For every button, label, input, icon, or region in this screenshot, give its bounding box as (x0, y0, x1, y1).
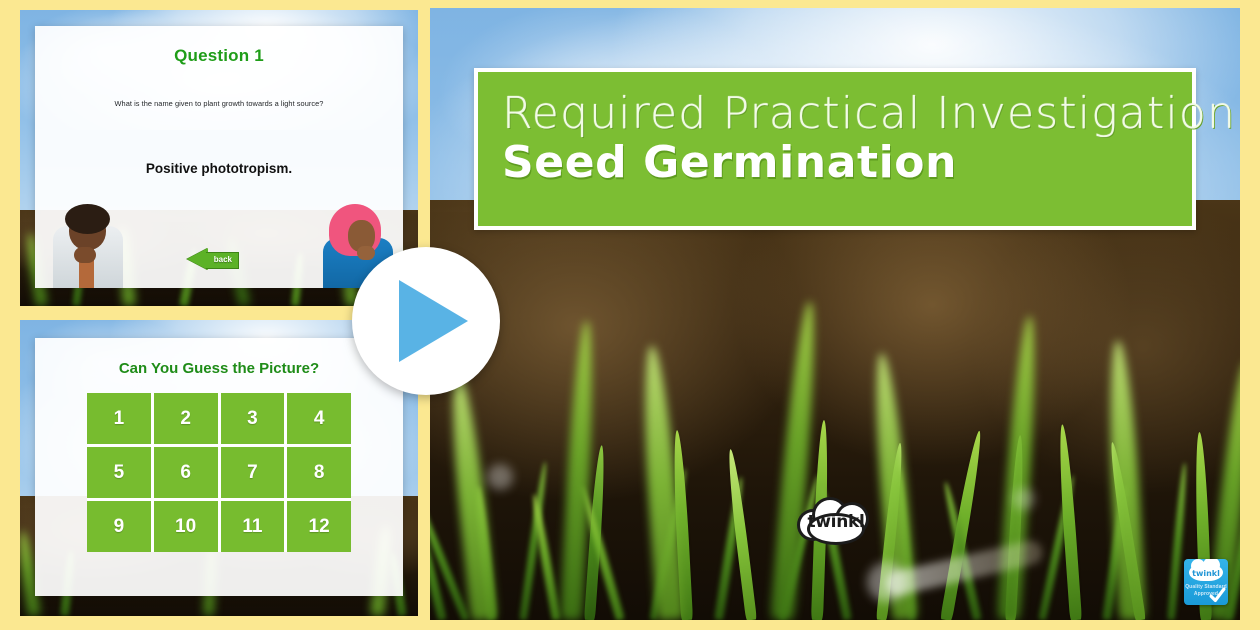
twinkl-logo: twinkl (800, 500, 872, 544)
question-slide-card: Question 1 What is the name given to pla… (35, 26, 403, 288)
question-slide-title: Question 1 (35, 46, 403, 66)
tile-1[interactable]: 1 (87, 393, 151, 444)
back-button[interactable]: back (187, 248, 239, 271)
tile-12[interactable]: 12 (287, 501, 351, 552)
question-slide-answer: Positive phototropism. (35, 161, 403, 176)
check-icon (1209, 587, 1226, 604)
tile-5[interactable]: 5 (87, 447, 151, 498)
tile-8[interactable]: 8 (287, 447, 351, 498)
thumbnail-question-slide[interactable]: Question 1 What is the name given to pla… (20, 10, 418, 306)
tile-11[interactable]: 11 (221, 501, 285, 552)
back-button-label: back (214, 255, 239, 264)
tile-10[interactable]: 10 (154, 501, 218, 552)
powerpoint-preview-stage: Question 1 What is the name given to pla… (0, 0, 1260, 630)
play-button[interactable] (352, 247, 500, 395)
main-slide-preview[interactable]: Required Practical Investigation Seed Ge… (430, 8, 1240, 620)
tile-3[interactable]: 3 (221, 393, 285, 444)
title-line-1: Required Practical Investigation (502, 92, 1168, 137)
picture-tile-grid: 1 2 3 4 5 6 7 8 9 10 11 12 (87, 393, 351, 552)
tile-4[interactable]: 4 (287, 393, 351, 444)
bokeh-dot-3 (1013, 488, 1035, 510)
twinkl-logo-text: twinkl (800, 500, 872, 544)
title-line-2: Seed Germination (502, 139, 1168, 187)
guess-picture-card: Can You Guess the Picture? 1 2 3 4 5 6 7… (35, 338, 403, 596)
play-triangle-icon (399, 280, 468, 362)
back-arrow-icon (187, 248, 208, 270)
bokeh-dot-2 (487, 464, 513, 490)
tile-2[interactable]: 2 (154, 393, 218, 444)
thumbnail-guess-picture-slide[interactable]: Can You Guess the Picture? 1 2 3 4 5 6 7… (20, 320, 418, 616)
tile-6[interactable]: 6 (154, 447, 218, 498)
tile-7[interactable]: 7 (221, 447, 285, 498)
guess-picture-title: Can You Guess the Picture? (35, 360, 403, 377)
main-soil-field (430, 200, 1240, 620)
quality-standard-badge: twinkl Quality Standard Approved (1184, 559, 1228, 605)
title-banner: Required Practical Investigation Seed Ge… (474, 68, 1196, 230)
question-slide-question: What is the name given to plant growth t… (35, 99, 403, 108)
avatar-student-left (49, 202, 127, 288)
badge-brand: twinkl (1189, 565, 1223, 581)
tile-9[interactable]: 9 (87, 501, 151, 552)
